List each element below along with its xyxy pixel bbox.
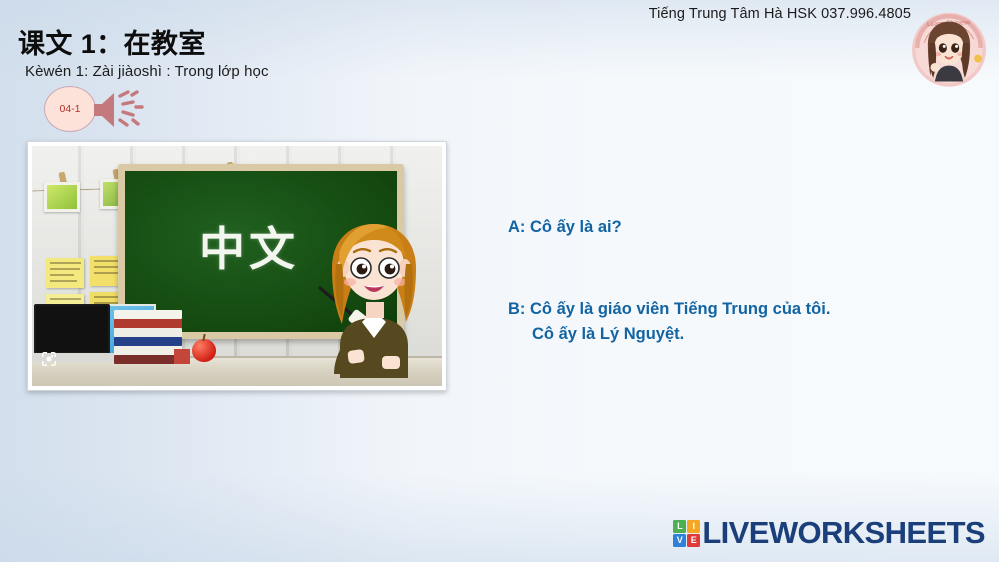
page-title: 课文 1：在教室 (18, 22, 206, 61)
sticky-note (46, 258, 84, 288)
contact-info-text: Tiếng Trung Tâm Hà HSK 037.996.4805 (649, 6, 911, 22)
audio-play-button[interactable]: 04-1 (44, 86, 96, 132)
live-tiles: L I V E (673, 520, 700, 547)
blackboard-text: 中文 (199, 213, 299, 279)
eraser (174, 349, 190, 364)
hanging-photo (44, 182, 80, 212)
speaker-sound-icon (92, 90, 144, 135)
google-lens-icon[interactable] (40, 350, 58, 368)
brand-wordmark: LIVEWORKSHEETS (702, 515, 985, 551)
dialogue-block: A: Cô ấy là ai? B: Cô ấy là giáo viên Ti… (508, 215, 978, 348)
page-subtitle: Kèwén 1: Zài jiàoshì : Trong lớp học (25, 63, 269, 80)
tile-l: L (673, 520, 686, 533)
teacher-avatar-logo: Learn Chinese (905, 4, 993, 92)
dialogue-line-b1: B: Cô ấy là giáo viên Tiếng Trung của tô… (508, 297, 978, 323)
dialogue-line-b2: Cô ấy là Lý Nguyệt. (508, 322, 978, 348)
audio-widget[interactable]: 04-1 (44, 86, 154, 134)
tile-e: E (687, 534, 700, 547)
classroom-illustration: 中文 (27, 141, 447, 391)
apple (192, 339, 216, 362)
dialogue-line-a: A: Cô ấy là ai? (508, 215, 978, 241)
liveworksheets-logo[interactable]: L I V E LIVEWORKSHEETS (673, 515, 985, 551)
tile-v: V (673, 534, 686, 547)
audio-track-label: 04-1 (59, 103, 80, 115)
tile-i: I (687, 520, 700, 533)
cartoon-teacher (316, 210, 436, 378)
